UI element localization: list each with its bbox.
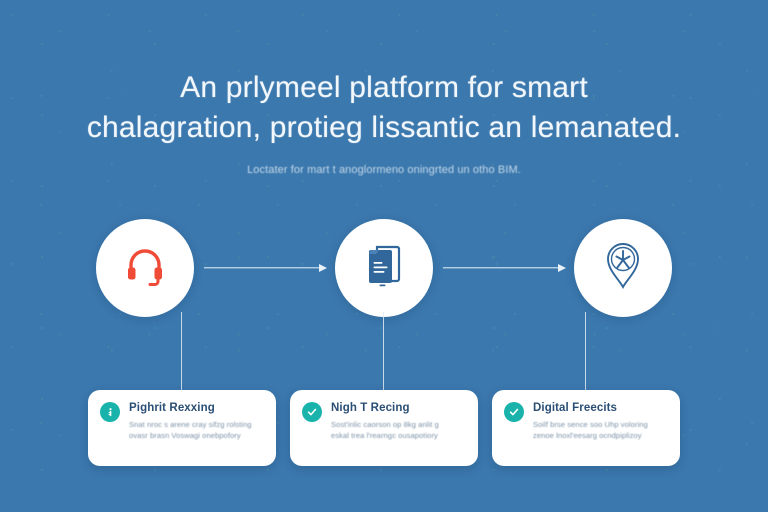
hero-text-block: An prlymeel platform for smart chalagrat…	[0, 68, 768, 178]
feature-card-body: Nigh T Recing Sost'inlic caorson op 8kg …	[331, 401, 466, 441]
feature-card-text: Sost'inlic caorson op 8kg anlit g eskal …	[331, 420, 466, 441]
arrow-head	[558, 264, 566, 272]
arrow-right-icon	[204, 267, 319, 268]
map-pin-person-icon	[601, 240, 645, 297]
connector-line-2	[383, 312, 384, 390]
feature-card-text-line-2: zenoe lnoxl'eesarg ocndpiplizoy	[533, 431, 668, 442]
feature-card-text-line-2: ovasr brasn Voswagi onebpofory	[129, 431, 264, 442]
feature-card-body: Pighrit Rexxing Snat nroc s arene cray s…	[129, 401, 264, 441]
feature-card[interactable]: Digital Freecits Soilf brse sence soo Uh…	[492, 390, 680, 466]
info-badge-icon	[100, 402, 120, 422]
flow-arrow-2	[439, 262, 568, 274]
flow-node-2[interactable]	[335, 219, 433, 317]
headline-line-1: An prlymeel platform for smart	[180, 71, 588, 104]
feature-card-text: Soilf brse sence soo Uhp voloring zenoe …	[533, 420, 668, 441]
feature-card-title: Nigh T Recing	[331, 401, 466, 415]
feature-card-text-line-1: Sost'inlic caorson op 8kg anlit g	[331, 420, 466, 431]
slide-canvas: An prlymeel platform for smart chalagrat…	[0, 0, 768, 512]
flow-circle-1	[96, 219, 194, 317]
document-icon	[361, 241, 407, 296]
process-flow	[96, 214, 672, 322]
hero-subtitle: Loctater for mart t anoglormeno oningrte…	[0, 162, 768, 178]
feature-card[interactable]: Pighrit Rexxing Snat nroc s arene cray s…	[88, 390, 276, 466]
headset-icon	[122, 243, 168, 294]
flow-circle-2	[335, 219, 433, 317]
feature-card-title: Digital Freecits	[533, 401, 668, 415]
check-circle-icon	[302, 402, 322, 422]
headline-line-2: chalagration, protieg lissantic an leman…	[0, 108, 768, 148]
feature-card-text-line-1: Soilf brse sence soo Uhp voloring	[533, 420, 668, 431]
feature-card-title: Pighrit Rexxing	[129, 401, 264, 415]
feature-card-text-line-1: Snat nroc s arene cray sifzg rolsting	[129, 420, 264, 431]
feature-card-row: Pighrit Rexxing Snat nroc s arene cray s…	[88, 390, 680, 466]
check-circle-icon	[504, 402, 524, 422]
feature-card-text-line-2: eskal trea l'rearngc ousapotiory	[331, 431, 466, 442]
arrow-head	[319, 264, 327, 272]
connector-line-3	[585, 312, 586, 390]
arrow-right-icon	[443, 267, 558, 268]
page-title: An prlymeel platform for smart chalagrat…	[0, 68, 768, 148]
feature-card-body: Digital Freecits Soilf brse sence soo Uh…	[533, 401, 668, 441]
connector-line-1	[181, 312, 182, 390]
flow-arrow-1	[200, 262, 329, 274]
feature-card[interactable]: Nigh T Recing Sost'inlic caorson op 8kg …	[290, 390, 478, 466]
flow-node-1[interactable]	[96, 219, 194, 317]
feature-card-text: Snat nroc s arene cray sifzg rolsting ov…	[129, 420, 264, 441]
flow-node-3[interactable]	[574, 219, 672, 317]
flow-circle-3	[574, 219, 672, 317]
